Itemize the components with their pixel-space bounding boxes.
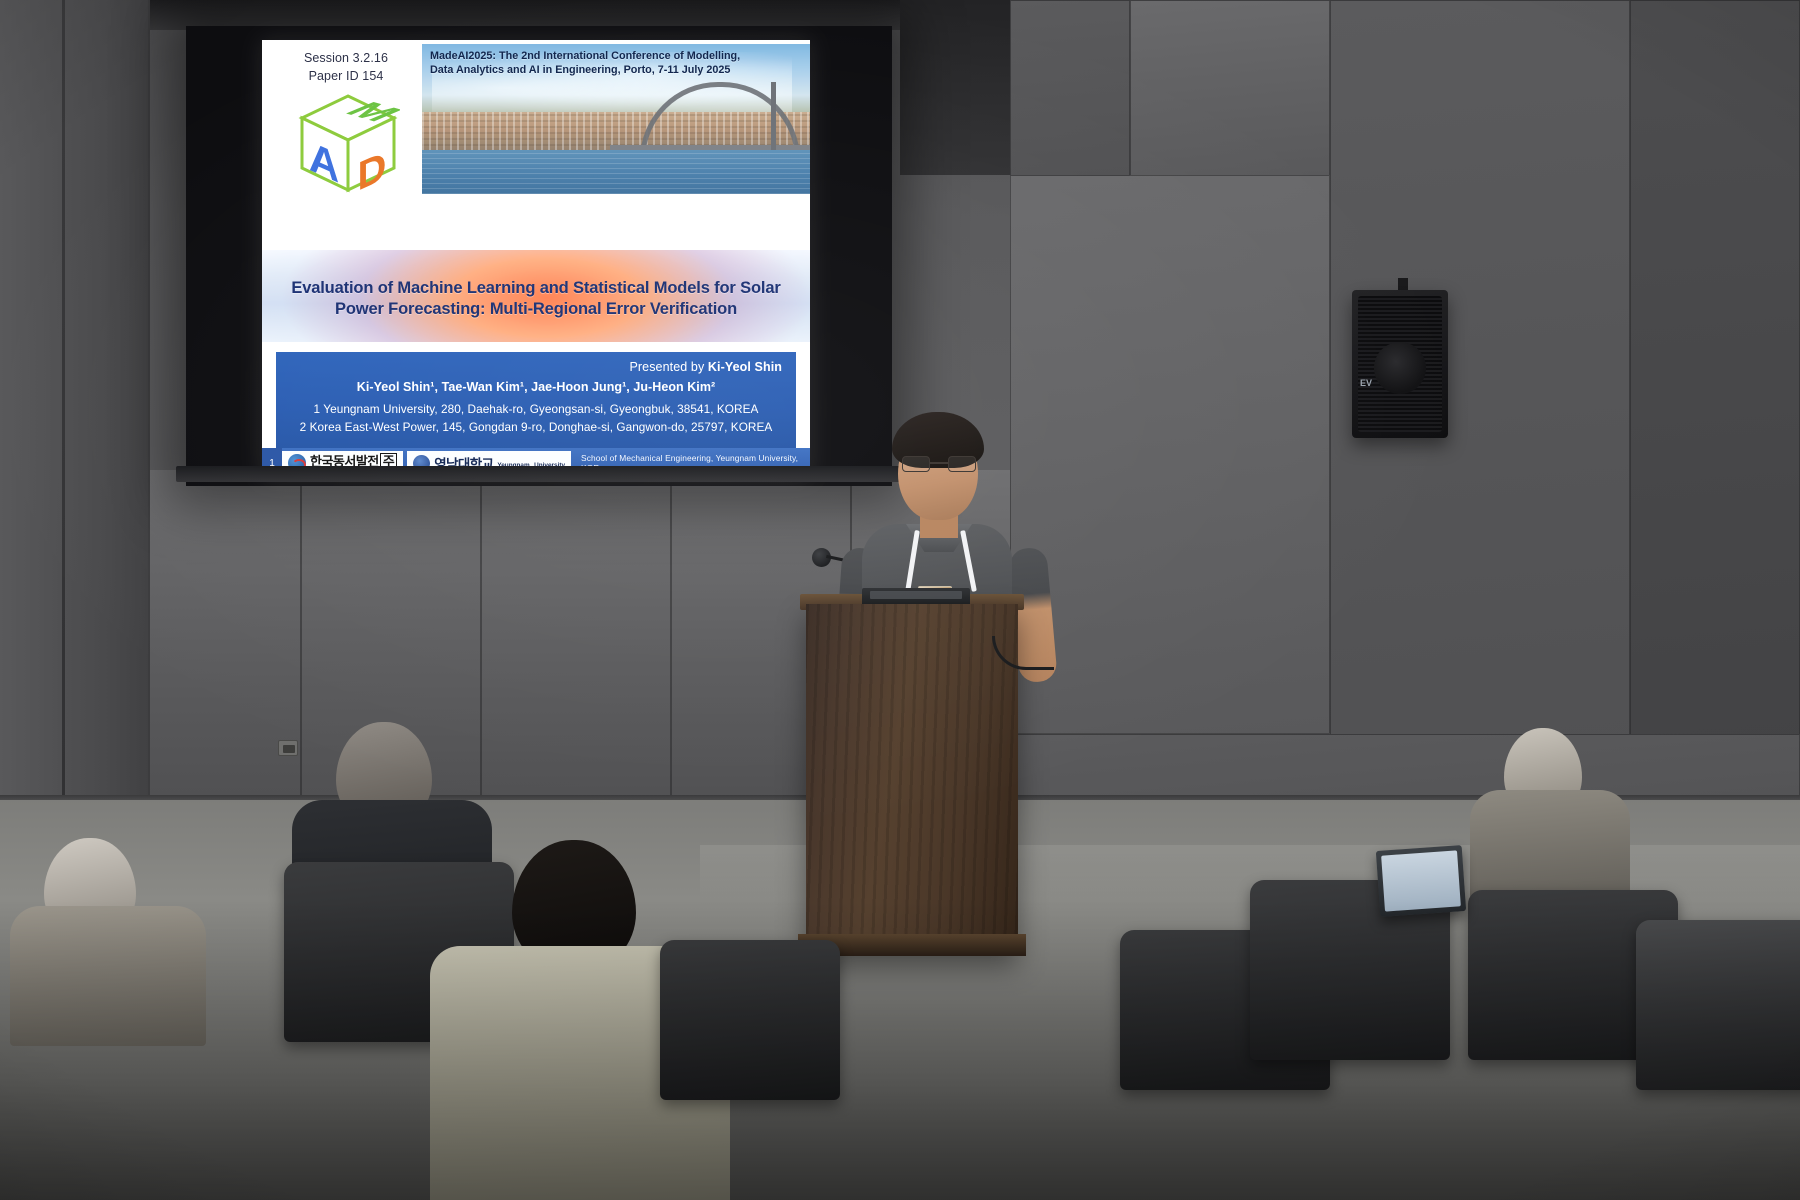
lectern-podium <box>806 604 1018 954</box>
conference-banner-text: MadeAI2025: The 2nd International Confer… <box>430 49 760 78</box>
audience-left-front-body <box>10 906 206 1046</box>
podium-wood-grain <box>806 604 1018 954</box>
bridge-pylon <box>771 82 776 150</box>
presented-by: Presented by Ki-Yeol Shin <box>629 360 782 374</box>
wall-panel-a <box>1010 174 1330 734</box>
wall-outlet-left <box>278 740 298 756</box>
audience-tablet <box>1376 845 1466 917</box>
slide-title: Evaluation of Machine Learning and Stati… <box>262 250 810 342</box>
presenter-name: Ki-Yeol Shin <box>708 360 782 374</box>
eyeglasses-icon <box>902 456 976 472</box>
affiliation-1: 1 Yeungnam University, 280, Daehak-ro, G… <box>314 400 759 418</box>
presentation-slide: Session 3.2.16 Paper ID 154 M A D <box>262 40 810 478</box>
presented-by-prefix: Presented by <box>629 360 707 374</box>
mad-cube-logo: M A D <box>296 92 400 196</box>
speaker-brand-badge: EV <box>1360 378 1372 388</box>
conference-room-scene: Session 3.2.16 Paper ID 154 M A D <box>0 0 1800 1200</box>
author-block: Presented by Ki-Yeol Shin Ki-Yeol Shin¹,… <box>276 352 796 456</box>
chair-right-d <box>1636 920 1800 1090</box>
paper-id-label: Paper ID 154 <box>276 68 416 86</box>
author-list: Ki-Yeol Shin¹, Tae-Wan Kim¹, Jae-Hoon Ju… <box>357 380 715 394</box>
wall-mounted-loudspeaker: EV <box>1352 290 1448 438</box>
title-line-1: Evaluation of Machine Learning and Stati… <box>291 278 780 299</box>
affiliation-2: 2 Korea East-West Power, 145, Gongdan 9-… <box>300 418 773 436</box>
wall-panel-d <box>1010 0 1130 176</box>
douro-river <box>422 150 810 194</box>
chair-center-a <box>660 940 840 1100</box>
porto-banner-photo: MadeAI2025: The 2nd International Confer… <box>422 44 810 194</box>
wall-panel-c <box>1630 0 1800 760</box>
session-label: Session 3.2.16 <box>276 50 416 68</box>
wall-panel-e <box>1130 0 1330 176</box>
session-info: Session 3.2.16 Paper ID 154 <box>276 50 416 86</box>
title-line-2: Power Forecasting: Multi-Regional Error … <box>335 299 737 320</box>
speaker-woofer <box>1374 342 1426 394</box>
slide-header: Session 3.2.16 Paper ID 154 M A D <box>262 40 810 250</box>
screen-bottom-bar <box>176 466 902 482</box>
projection-screen: Session 3.2.16 Paper ID 154 M A D <box>186 26 892 486</box>
